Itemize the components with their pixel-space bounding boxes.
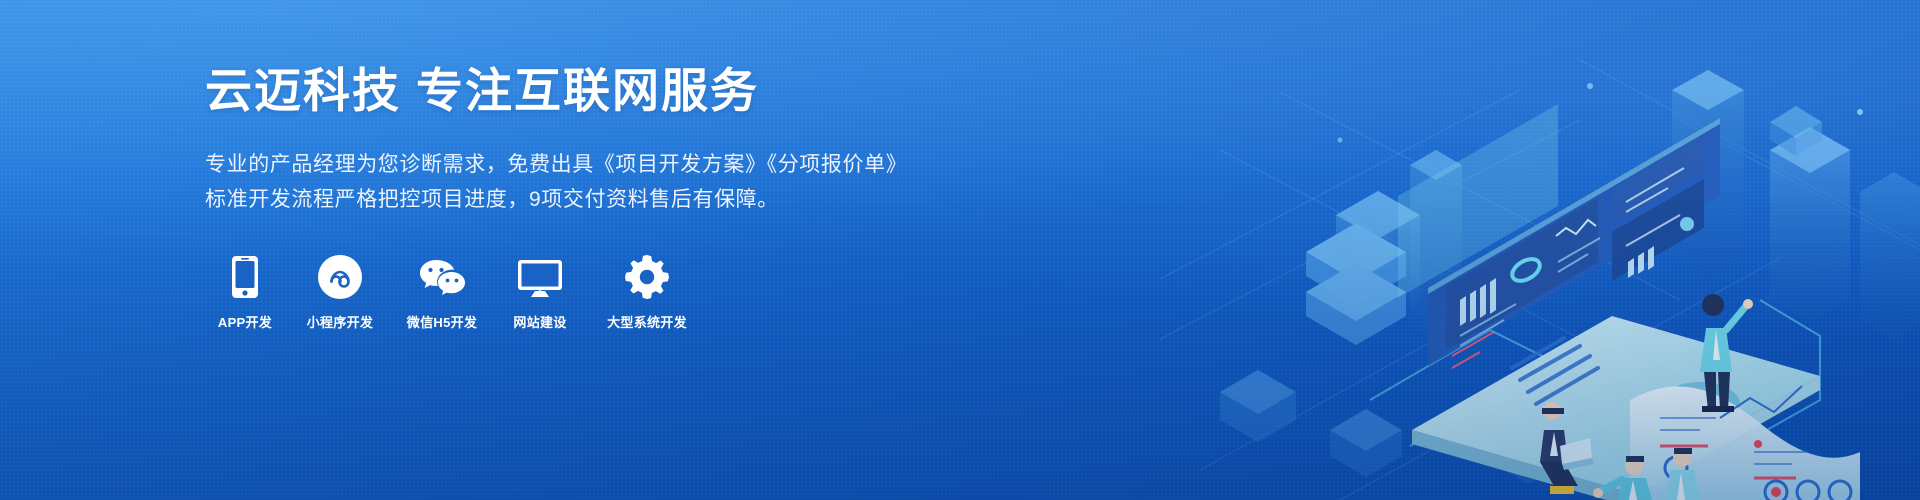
- mobile-phone-icon: [209, 253, 281, 299]
- isometric-tech-illustration: [1160, 0, 1920, 500]
- mini-program-icon: [297, 253, 383, 299]
- service-label: 大型系统开发: [595, 312, 699, 331]
- subtitle-line-2: 标准开发流程严格把控项目进度，9项交付资料售后有保障。: [205, 182, 925, 217]
- service-label: 微信H5开发: [399, 312, 485, 331]
- service-item-large-system[interactable]: 大型系统开发: [595, 253, 699, 331]
- service-item-wechat-h5[interactable]: 微信H5开发: [399, 253, 485, 331]
- service-label: 网站建设: [501, 312, 579, 331]
- banner-subtitle: 专业的产品经理为您诊断需求，免费出具《项目开发方案》《分项报价单》 标准开发流程…: [205, 147, 925, 217]
- character-seated: [1540, 402, 1594, 494]
- hero-banner: 云迈科技 专注互联网服务 专业的产品经理为您诊断需求，免费出具《项目开发方案》《…: [0, 0, 1920, 500]
- service-item-website[interactable]: 网站建设: [501, 253, 579, 331]
- wechat-icon: [399, 253, 485, 299]
- desktop-monitor-icon: [501, 253, 579, 299]
- banner-content: 云迈科技 专注互联网服务 专业的产品经理为您诊断需求，免费出具《项目开发方案》《…: [205, 62, 925, 331]
- subtitle-line-1: 专业的产品经理为您诊断需求，免费出具《项目开发方案》《分项报价单》: [205, 147, 925, 182]
- character-presenter: [1700, 294, 1753, 412]
- gear-icon: [595, 253, 699, 299]
- service-label: 小程序开发: [297, 312, 383, 331]
- service-label: APP开发: [209, 312, 281, 331]
- service-item-app[interactable]: APP开发: [209, 253, 281, 331]
- page-title: 云迈科技 专注互联网服务: [205, 62, 925, 121]
- service-list: APP开发 小程序开发: [209, 253, 925, 331]
- character-pair: [1593, 448, 1700, 500]
- service-item-mini-program[interactable]: 小程序开发: [297, 253, 383, 331]
